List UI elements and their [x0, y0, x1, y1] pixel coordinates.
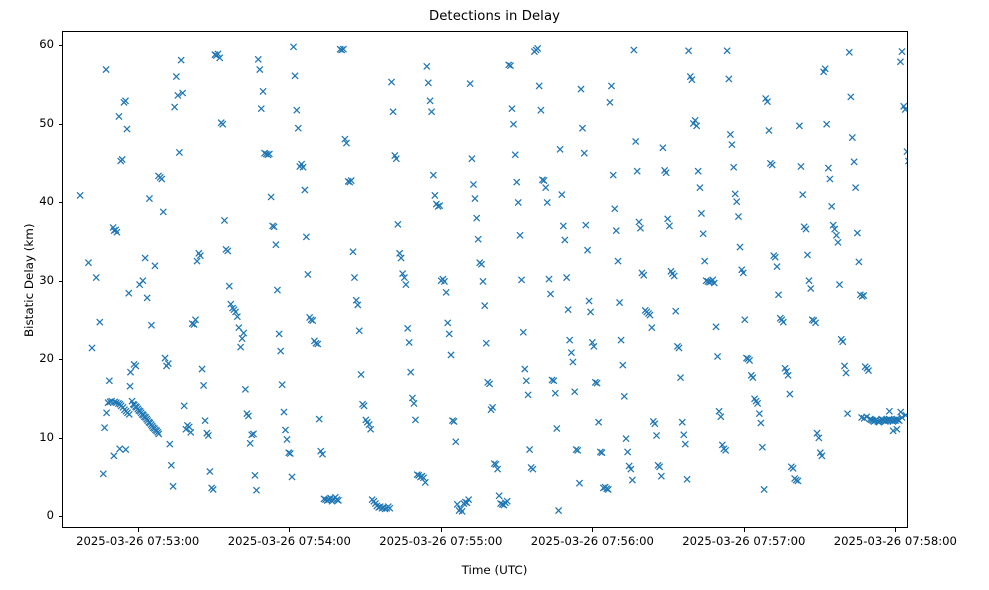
x-tick-label: 2025-03-26 07:58:00 [795, 536, 989, 548]
x-tick-mark [289, 528, 290, 532]
matplotlib-figure: Detections in Delay Bistatic Delay (km) … [0, 0, 989, 590]
scatter-series [63, 32, 907, 527]
plot-axes [62, 31, 908, 528]
x-tick-mark [895, 528, 896, 532]
y-tick-mark [59, 438, 63, 439]
y-tick-mark [59, 202, 63, 203]
x-axis-label: Time (UTC) [0, 563, 989, 577]
y-tick-mark [59, 359, 63, 360]
y-tick-label: 60 [6, 39, 54, 51]
x-tick-mark [592, 528, 593, 532]
y-tick-mark [59, 124, 63, 125]
chart-title: Detections in Delay [0, 9, 989, 24]
y-tick-mark [59, 45, 63, 46]
x-tick-mark [441, 528, 442, 532]
x-tick-mark [138, 528, 139, 532]
y-tick-label: 40 [6, 196, 54, 208]
y-tick-label: 50 [6, 118, 54, 130]
y-tick-label: 30 [6, 275, 54, 287]
y-tick-label: 20 [6, 353, 54, 365]
x-tick-mark [744, 528, 745, 532]
y-tick-label: 0 [6, 510, 54, 522]
y-tick-label: 10 [6, 432, 54, 444]
y-tick-mark [59, 281, 63, 282]
y-tick-mark [59, 516, 63, 517]
